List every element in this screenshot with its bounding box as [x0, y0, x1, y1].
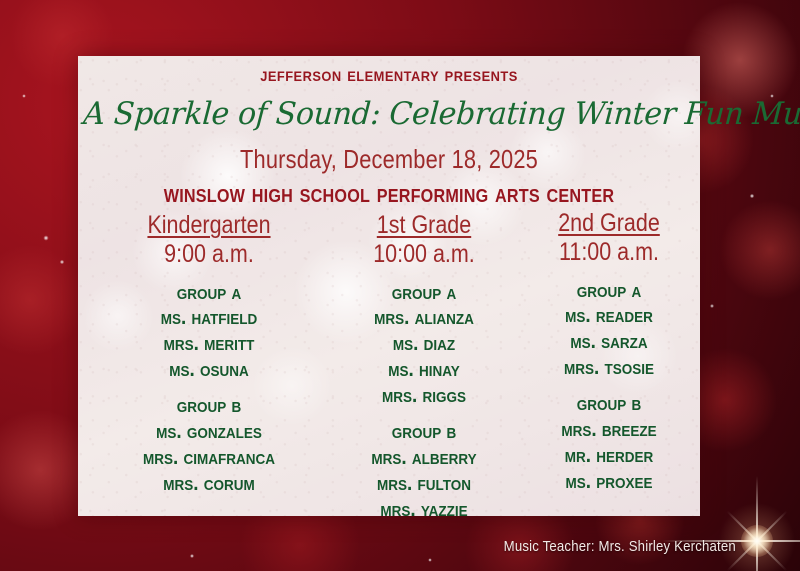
- group-block: Group BMs. GonzalesMrs. CimafrancaMrs. C…: [94, 393, 324, 497]
- event-date: Thursday, December 18, 2025: [128, 144, 650, 175]
- teacher-name: Ms. Reader: [527, 303, 691, 329]
- group-label: Group B: [334, 419, 514, 445]
- group-block: Group AMrs. AlianzaMs. DiazMs. HinayMrs.…: [324, 280, 524, 410]
- concert-poster: Jefferson Elementary presents A Sparkle …: [0, 0, 800, 571]
- group-label: Group A: [334, 280, 514, 306]
- teacher-name: Mrs. Cimafranca: [106, 445, 313, 471]
- grade-columns: Kindergarten9:00 a.m.Group AMs. Hatfield…: [78, 212, 700, 516]
- page-title: A Sparkle of Sound: Celebrating Winter F…: [82, 96, 696, 132]
- event-venue: Winslow High School Performing Arts Cent…: [109, 178, 669, 209]
- teacher-name: Mrs. Breeze: [527, 417, 691, 443]
- group-block: Group BMrs. BreezeMr. HerderMs. Proxee: [518, 391, 700, 495]
- teacher-name: Mrs. Alianza: [334, 305, 514, 331]
- group-label: Group B: [527, 391, 691, 417]
- teacher-name: Ms. Sarza: [527, 329, 691, 355]
- grade-column: 2nd Grade11:00 a.m.Group AMs. ReaderMs. …: [518, 210, 700, 495]
- presents-line: Jefferson Elementary presents: [103, 64, 675, 87]
- teacher-name: Mrs. Alberry: [334, 445, 514, 471]
- teacher-name: Ms. Hinay: [334, 357, 514, 383]
- teacher-name: Ms. Proxee: [527, 469, 691, 495]
- teacher-name: Mrs. Fulton: [334, 471, 514, 497]
- teacher-name: Mr. Herder: [527, 443, 691, 469]
- teacher-name: Mrs. Riggs: [334, 383, 514, 409]
- teacher-name: Ms. Gonzales: [106, 419, 313, 445]
- group-label: Group A: [106, 280, 313, 306]
- group-block: Group AMs. ReaderMs. SarzaMrs. Tsosie: [518, 278, 700, 382]
- grade-column: 1st Grade10:00 a.m.Group AMrs. AlianzaMs…: [324, 212, 524, 523]
- teacher-name: Ms. Osuna: [106, 357, 313, 383]
- grade-heading: 1st Grade: [338, 212, 510, 239]
- grade-column: Kindergarten9:00 a.m.Group AMs. Hatfield…: [94, 212, 324, 497]
- grade-time: 9:00 a.m.: [110, 239, 308, 270]
- group-block: Group BMrs. AlberryMrs. FultonMrs. Yazzi…: [324, 419, 524, 523]
- group-label: Group B: [106, 393, 313, 419]
- teacher-name: Mrs. Tsosie: [527, 355, 691, 381]
- teacher-name: Mrs. Meritt: [106, 331, 313, 357]
- group-label: Group A: [527, 278, 691, 304]
- teacher-name: Mrs. Corum: [106, 471, 313, 497]
- group-block: Group AMs. HatfieldMrs. MerittMs. Osuna: [94, 280, 324, 384]
- grade-heading: Kindergarten: [110, 212, 308, 239]
- teacher-name: Mrs. Yazzie: [334, 497, 514, 523]
- teacher-name: Ms. Hatfield: [106, 305, 313, 331]
- music-teacher-credit: Music Teacher: Mrs. Shirley Kerchaten: [504, 538, 736, 555]
- teacher-name: Ms. Diaz: [334, 331, 514, 357]
- grade-time: 11:00 a.m.: [531, 237, 688, 268]
- content-panel: Jefferson Elementary presents A Sparkle …: [78, 56, 700, 516]
- grade-heading: 2nd Grade: [531, 210, 688, 237]
- poster-content: Jefferson Elementary presents A Sparkle …: [78, 56, 700, 516]
- grade-time: 10:00 a.m.: [338, 239, 510, 270]
